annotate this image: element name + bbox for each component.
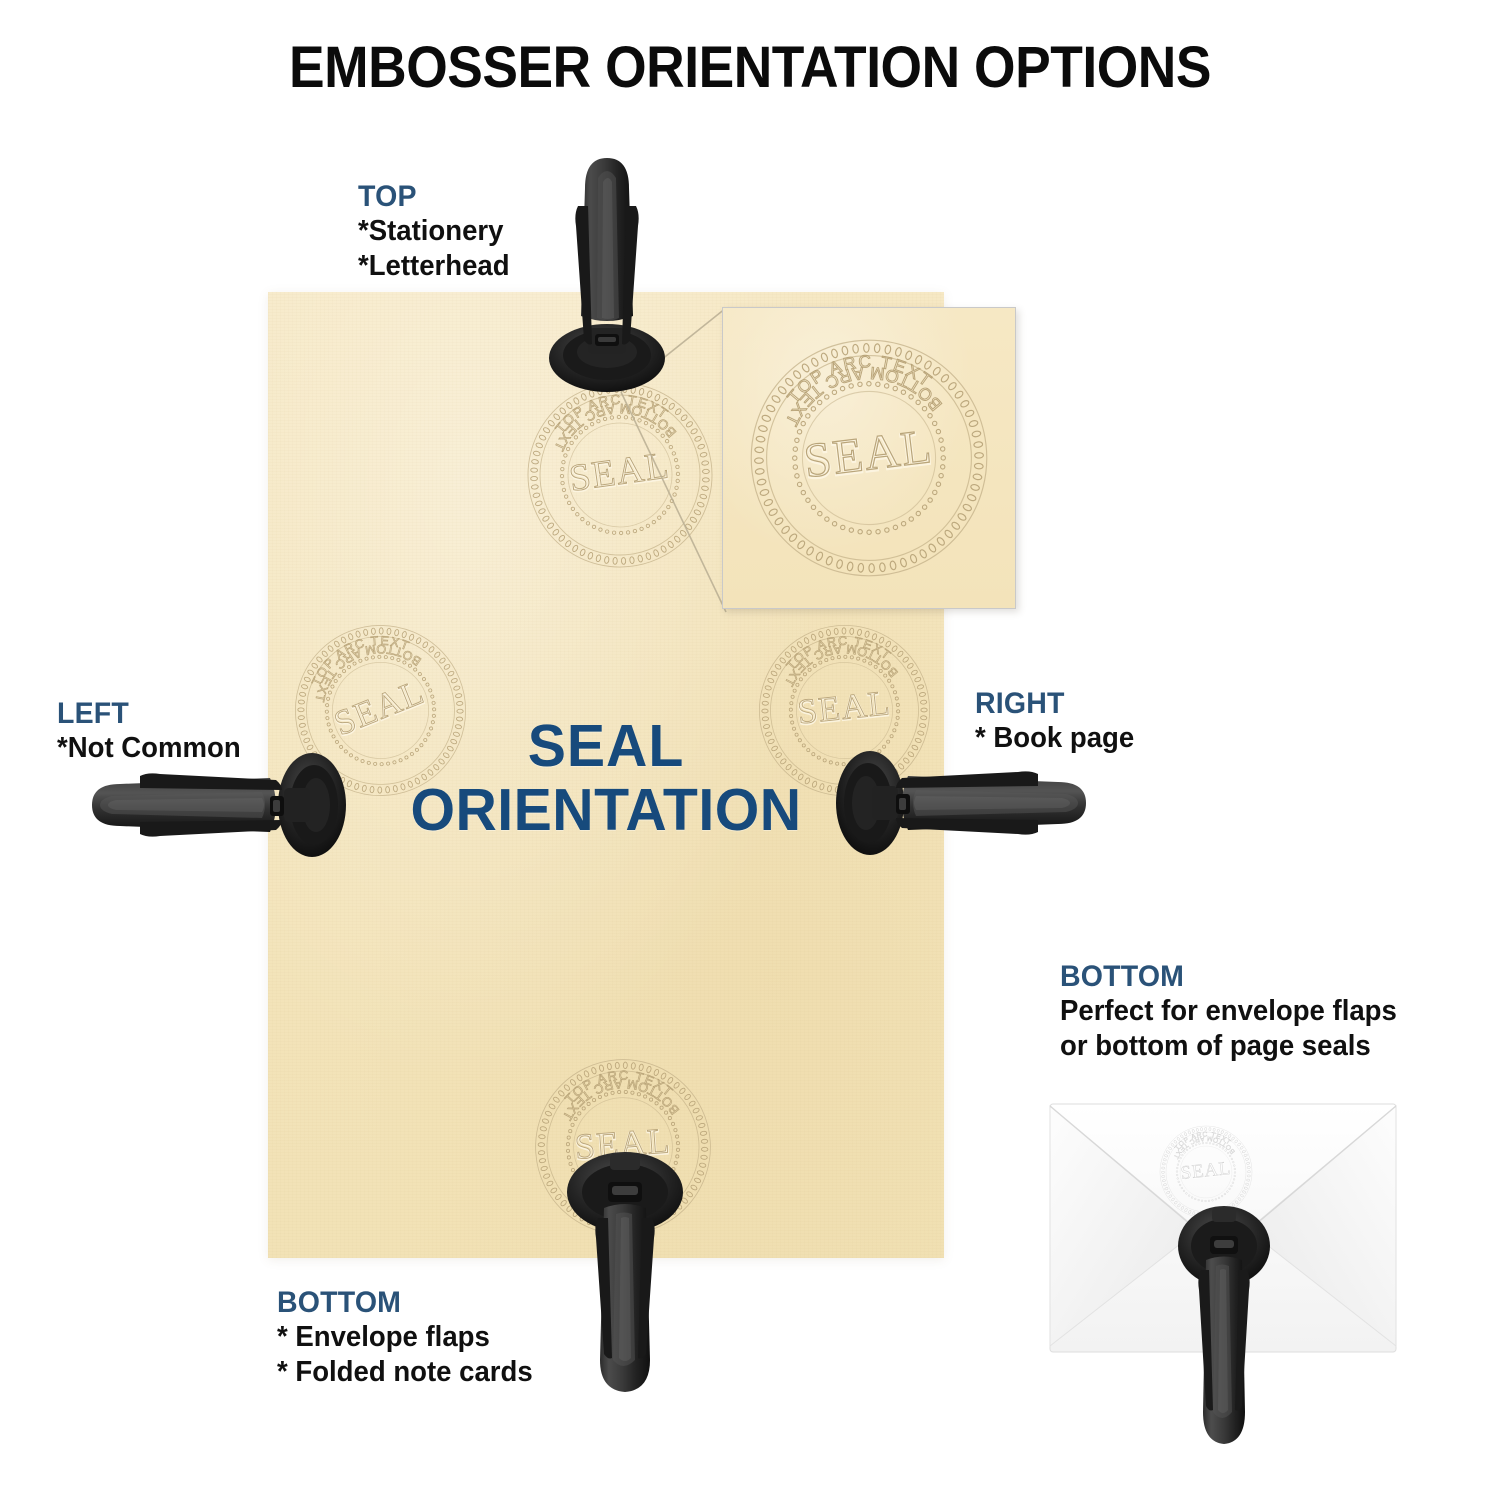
svg-text:SEAL: SEAL <box>801 419 936 488</box>
center-line-2: ORIENTATION <box>278 779 934 843</box>
embosser-top[interactable] <box>548 152 666 392</box>
callout-bottom-page-line-2: * Folded note cards <box>277 1355 533 1390</box>
magnified-seal-inset: TOP ARC TEXTBOTTOM ARC TEXTSEALSEAL <box>722 307 1016 609</box>
callout-right: RIGHT * Book page <box>975 687 1143 756</box>
callout-bottom-envelope-line-1: Perfect for envelope flaps <box>1060 994 1397 1029</box>
svg-text:BOTTOM ARC TEXT: BOTTOM ARC TEXT <box>775 354 947 433</box>
callout-bottom-page-heading: BOTTOM <box>277 1286 533 1320</box>
callout-left-line-1: *Not Common <box>57 731 241 766</box>
callout-right-heading: RIGHT <box>975 687 1134 721</box>
callout-right-line-1: * Book page <box>975 721 1134 756</box>
embossed-seal-magnified: TOP ARC TEXTBOTTOM ARC TEXTSEALSEAL <box>741 330 997 586</box>
infographic-canvas: EMBOSSER ORIENTATION OPTIONS TOP ARC TEX… <box>0 0 1500 1500</box>
callout-bottom-envelope-line-2: or bottom of page seals <box>1060 1029 1397 1064</box>
embosser-envelope[interactable] <box>1178 1200 1270 1446</box>
callout-left: LEFT *Not Common <box>57 697 250 766</box>
callout-left-heading: LEFT <box>57 697 241 731</box>
embosser-tool-icon <box>548 152 666 392</box>
svg-text:SEAL: SEAL <box>801 420 936 489</box>
embosser-tool-icon <box>1178 1200 1270 1446</box>
embosser-bottom[interactable] <box>566 1148 684 1396</box>
center-line-1: SEAL <box>278 715 934 779</box>
embosser-tool-icon <box>566 1148 684 1396</box>
callout-top-line-2: *Letterhead <box>358 249 510 284</box>
center-seal-orientation-text: SEAL ORIENTATION <box>268 715 944 842</box>
callout-top-line-1: *Stationery <box>358 214 510 249</box>
callout-top-heading: TOP <box>358 180 510 214</box>
callout-bottom-page: BOTTOM * Envelope flaps * Folded note ca… <box>277 1286 546 1390</box>
page-title: EMBOSSER ORIENTATION OPTIONS <box>60 34 1440 101</box>
callout-bottom-envelope: BOTTOM Perfect for envelope flaps or bot… <box>1060 960 1415 1064</box>
callout-bottom-envelope-heading: BOTTOM <box>1060 960 1397 994</box>
svg-text:TOP ARC TEXT: TOP ARC TEXT <box>779 342 938 408</box>
callout-top: TOP *Stationery *Letterhead <box>358 180 518 284</box>
callout-bottom-page-line-1: * Envelope flaps <box>277 1320 533 1355</box>
